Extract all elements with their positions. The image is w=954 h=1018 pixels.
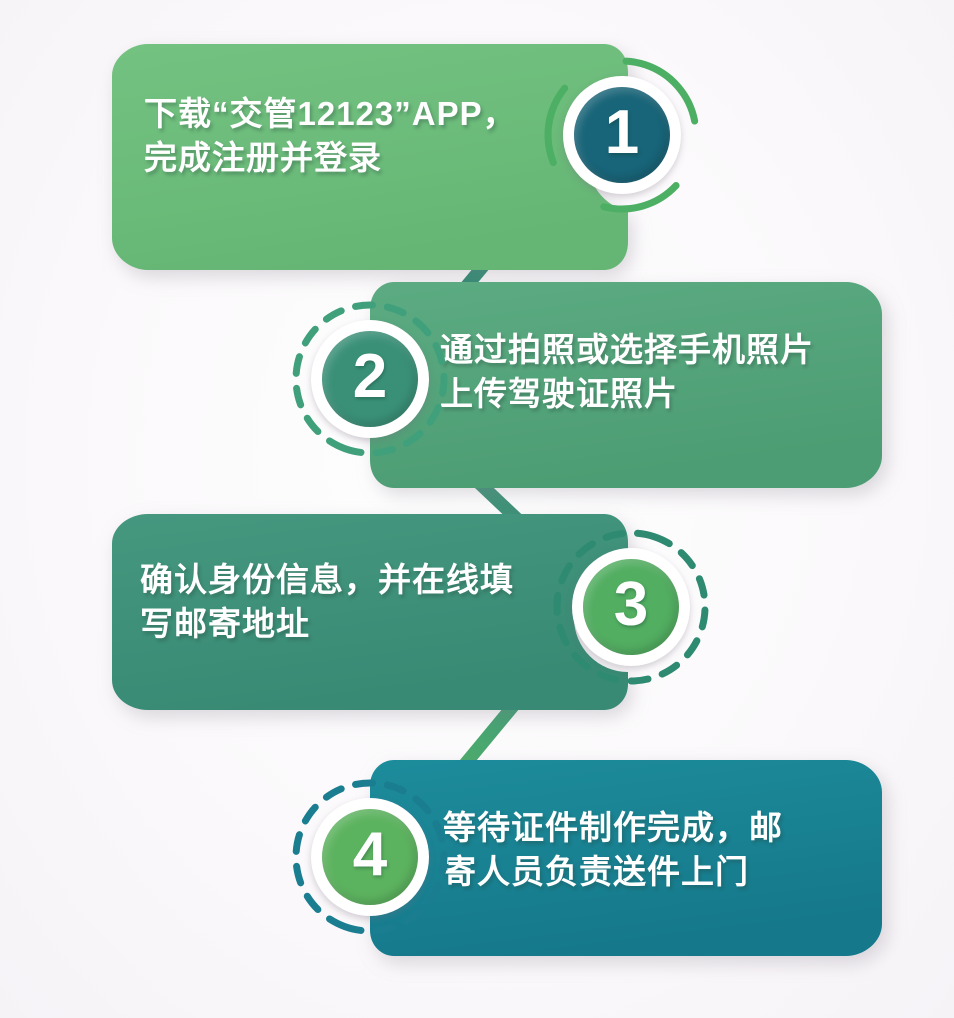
step-2-badge-disc: 2 (322, 331, 418, 427)
step-4-badge-disc: 4 (322, 809, 418, 905)
step-4-badge[interactable]: 4 (311, 798, 429, 916)
step-4-number: 4 (353, 824, 387, 886)
step-3-text: 确认身份信息，并在线填 写邮寄地址 (140, 558, 560, 646)
step-3-badge[interactable]: 3 (572, 548, 690, 666)
step-1-badge-disc: 1 (574, 87, 670, 183)
step-1-badge[interactable]: 1 (563, 76, 681, 194)
step-3-badge-disc: 3 (583, 559, 679, 655)
step-2-badge[interactable]: 2 (311, 320, 429, 438)
flow-infographic: 下载“交管12123”APP， 完成注册并登录 1 通过拍照或选择手机照片 上传… (0, 0, 954, 1018)
step-1-text: 下载“交管12123”APP， 完成注册并登录 (144, 92, 564, 180)
step-1-number: 1 (605, 102, 639, 164)
step-2-number: 2 (353, 346, 387, 408)
step-3-number: 3 (614, 574, 648, 636)
step-4-text: 等待证件制作完成，邮 寄人员负责送件上门 (443, 806, 873, 894)
step-2-text: 通过拍照或选择手机照片 上传驾驶证照片 (440, 328, 870, 416)
